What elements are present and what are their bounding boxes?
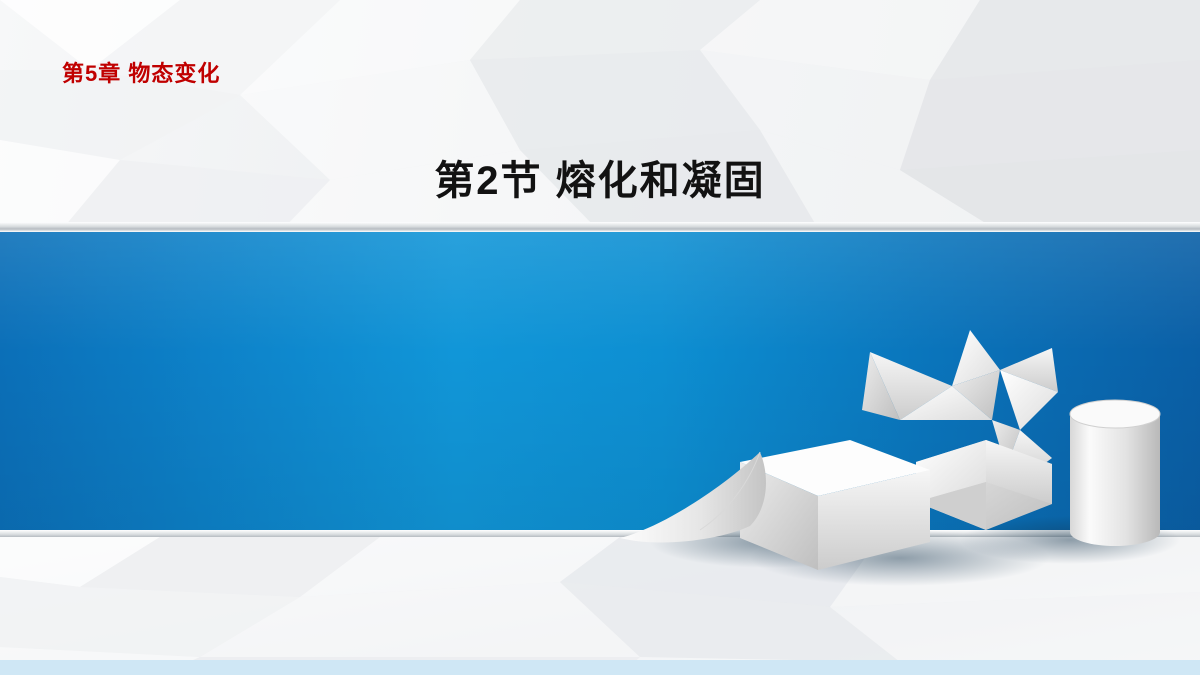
bottom-polygon-pattern xyxy=(0,537,1200,675)
page-title: 第2节 熔化和凝固 xyxy=(0,148,1200,206)
chapter-label: 第5章 物态变化 xyxy=(62,56,220,88)
slide-root: 第5章 物态变化 第2节 熔化和凝固 xyxy=(0,0,1200,675)
divider-top xyxy=(0,222,1200,232)
bottom-background xyxy=(0,537,1200,675)
blue-banner xyxy=(0,232,1200,530)
footer-strip xyxy=(0,660,1200,675)
